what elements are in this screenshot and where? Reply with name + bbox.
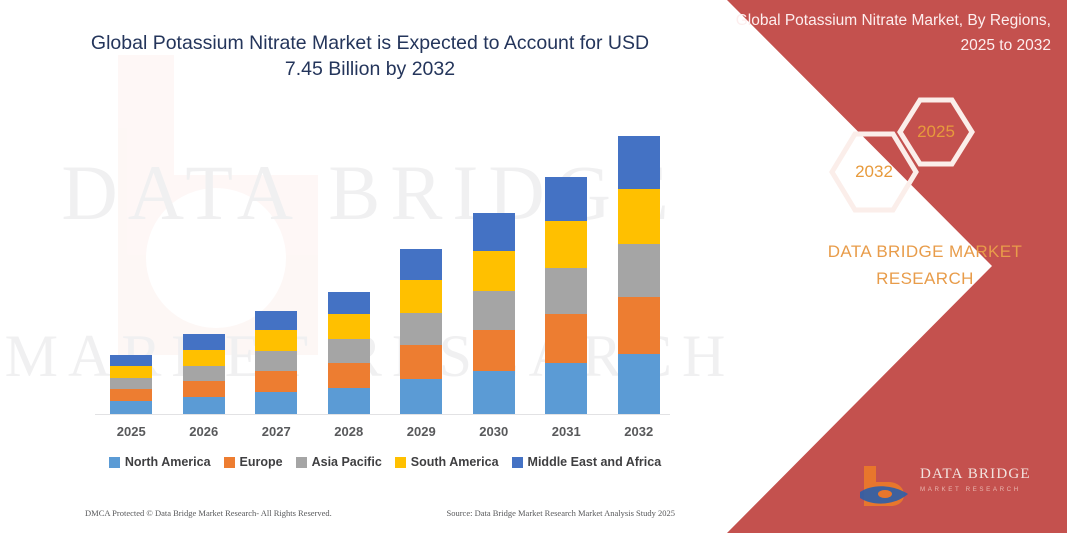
bar-segment <box>400 313 442 345</box>
bar-segment <box>183 366 225 381</box>
brand-line-1: DATA BRIDGE MARKET <box>800 238 1050 265</box>
bar-segment <box>110 378 152 389</box>
bar-segment <box>255 371 297 392</box>
stacked-bar-chart <box>95 120 675 414</box>
footer-copyright: DMCA Protected © Data Bridge Market Rese… <box>85 508 332 518</box>
bar-2029 <box>400 249 442 414</box>
hexagon-badge-2032-label: 2032 <box>855 162 893 182</box>
chart-panel: Global Potassium Nitrate Market is Expec… <box>0 0 740 533</box>
bar-segment <box>545 314 587 363</box>
hexagon-badge-2025-label: 2025 <box>917 122 955 142</box>
x-axis-line <box>95 414 670 415</box>
bar-segment <box>618 297 660 354</box>
bar-2028 <box>328 292 370 414</box>
bar-segment <box>618 354 660 414</box>
bar-segment <box>618 244 660 297</box>
bar-segment <box>328 314 370 339</box>
legend-item: Europe <box>224 455 283 469</box>
logo-subtitle: MARKET RESEARCH <box>920 486 1050 493</box>
bar-segment <box>473 330 515 371</box>
bar-segment <box>183 350 225 366</box>
bar-segment <box>473 291 515 330</box>
footer-source: Source: Data Bridge Market Research Mark… <box>446 508 675 518</box>
x-axis-label-2029: 2029 <box>400 424 442 444</box>
bar-segment <box>473 371 515 414</box>
data-bridge-logo-icon <box>858 462 916 508</box>
bar-segment <box>328 292 370 314</box>
bar-segment <box>618 189 660 244</box>
bar-segment <box>183 334 225 350</box>
legend-swatch-icon <box>109 457 120 468</box>
x-axis-label-2030: 2030 <box>473 424 515 444</box>
bar-segment <box>618 136 660 189</box>
company-logo: DATA BRIDGE MARKET RESEARCH <box>858 462 1048 508</box>
legend-label: North America <box>125 455 211 469</box>
bar-segment <box>473 251 515 291</box>
legend-item: Asia Pacific <box>296 455 382 469</box>
legend-item: South America <box>395 455 499 469</box>
bar-2030 <box>473 213 515 414</box>
x-axis-label-2031: 2031 <box>545 424 587 444</box>
bar-segment <box>328 388 370 414</box>
x-axis-labels: 20252026202720282029203020312032 <box>95 424 675 444</box>
bar-segment <box>328 363 370 388</box>
legend-label: South America <box>411 455 499 469</box>
hexagon-badge-2025: 2025 <box>896 96 976 168</box>
bar-2027 <box>255 311 297 414</box>
legend-label: Asia Pacific <box>312 455 382 469</box>
bar-2031 <box>545 177 587 414</box>
chart-legend: North AmericaEuropeAsia PacificSouth Ame… <box>95 455 675 469</box>
chart-title: Global Potassium Nitrate Market is Expec… <box>70 30 670 82</box>
x-axis-label-2032: 2032 <box>618 424 660 444</box>
bar-segment <box>255 330 297 351</box>
red-panel-title: Global Potassium Nitrate Market, By Regi… <box>721 8 1051 58</box>
bar-segment <box>328 339 370 363</box>
bar-segment <box>255 351 297 371</box>
x-axis-label-2025: 2025 <box>110 424 152 444</box>
bar-segment <box>400 379 442 414</box>
bar-segment <box>400 249 442 280</box>
logo-name: DATA BRIDGE <box>920 466 1050 483</box>
bar-2026 <box>183 334 225 414</box>
legend-swatch-icon <box>224 457 235 468</box>
legend-item: Middle East and Africa <box>512 455 662 469</box>
legend-label: Europe <box>240 455 283 469</box>
legend-item: North America <box>109 455 211 469</box>
legend-swatch-icon <box>512 457 523 468</box>
bar-segment <box>400 345 442 379</box>
hexagon-badges: 2032 2025 <box>828 98 978 213</box>
legend-label: Middle East and Africa <box>528 455 662 469</box>
bar-segment <box>545 363 587 414</box>
bar-segment <box>183 397 225 414</box>
x-axis-label-2027: 2027 <box>255 424 297 444</box>
legend-swatch-icon <box>395 457 406 468</box>
infographic-root: DATA BRIDGE MARKET RESEARCH Global Potas… <box>0 0 1067 533</box>
bar-segment <box>255 311 297 330</box>
bar-2025 <box>110 355 152 414</box>
bar-segment <box>400 280 442 313</box>
bar-segment <box>255 392 297 414</box>
brand-line-2: RESEARCH <box>800 265 1050 292</box>
bar-segment <box>110 401 152 414</box>
bar-segment <box>545 268 587 314</box>
x-axis-label-2026: 2026 <box>183 424 225 444</box>
bar-segment <box>110 355 152 366</box>
bar-segment <box>545 177 587 221</box>
bar-2032 <box>618 136 660 414</box>
bar-segment <box>183 381 225 397</box>
logo-text: DATA BRIDGE MARKET RESEARCH <box>920 466 1050 493</box>
legend-swatch-icon <box>296 457 307 468</box>
x-axis-label-2028: 2028 <box>328 424 370 444</box>
bar-segment <box>545 221 587 268</box>
brand-wordmark: DATA BRIDGE MARKET RESEARCH <box>800 238 1050 292</box>
chart-footer: DMCA Protected © Data Bridge Market Rese… <box>85 508 675 518</box>
bar-segment <box>110 366 152 378</box>
bar-segment <box>473 213 515 251</box>
bar-segment <box>110 389 152 401</box>
